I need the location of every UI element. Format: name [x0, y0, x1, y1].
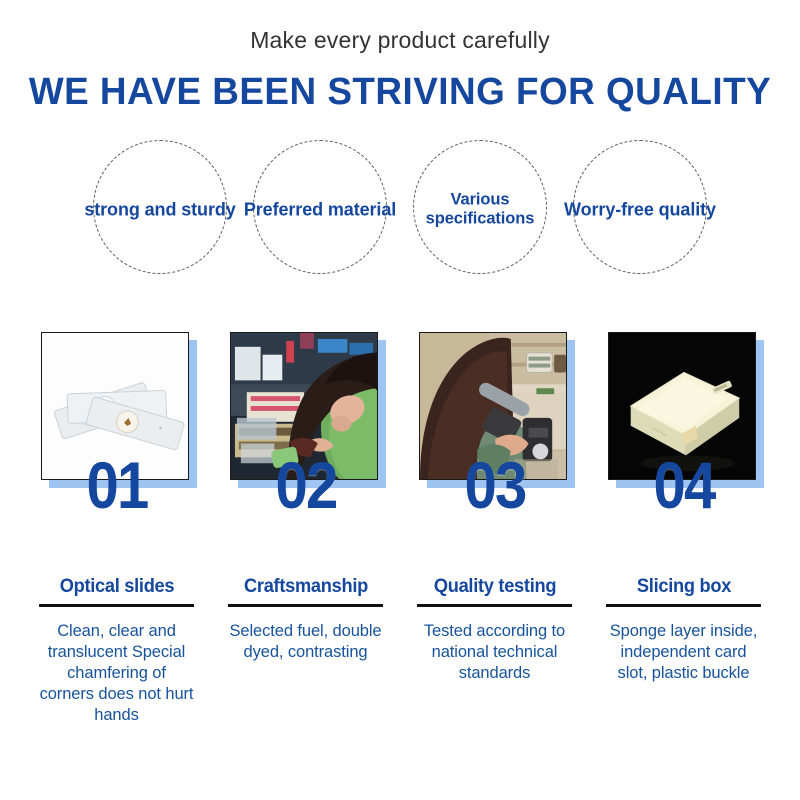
product-card-craftsmanship: 02 Craftsmanship Selected fuel, double d…: [228, 332, 384, 727]
product-card-divider: [417, 604, 572, 607]
product-card-divider: [606, 604, 761, 607]
product-card-title: Craftsmanship: [231, 576, 381, 598]
product-card-divider: [228, 604, 383, 607]
product-card-description: Clean, clear and translucent Special cha…: [39, 621, 195, 727]
product-card-number: 04: [615, 452, 752, 518]
feature-circle-label: Worry-free quality: [560, 199, 720, 220]
product-card-description: Selected fuel, double dyed, contrasting: [228, 621, 384, 663]
product-card-number: 02: [237, 452, 374, 518]
feature-circle-strong-and-sturdy: strong and sturdy: [93, 140, 227, 274]
product-card-number: 03: [426, 452, 563, 518]
feature-circle-label: Preferred material: [240, 199, 400, 220]
page-header: Make every product carefully WE HAVE BEE…: [0, 0, 800, 114]
feature-circle-preferred-material: Preferred material: [253, 140, 387, 274]
feature-circle-worry-free-quality: Worry-free quality: [573, 140, 707, 274]
product-quality-banner: Make every product carefully WE HAVE BEE…: [0, 0, 800, 800]
page-subtitle: Make every product carefully: [0, 28, 800, 53]
product-card-title: Optical slides: [42, 576, 192, 598]
product-card-optical-slides: 01 Optical slides Clean, clear and trans…: [39, 332, 195, 727]
product-card-number: 01: [48, 452, 185, 518]
feature-circle-label: strong and sturdy: [80, 199, 240, 220]
product-card-description: Sponge layer inside, independent card sl…: [606, 621, 762, 684]
product-card-slicing-box: 04 Slicing box Sponge layer inside, inde…: [606, 332, 762, 727]
product-card-list: 01 Optical slides Clean, clear and trans…: [0, 332, 800, 727]
product-card-description: Tested according to national technical s…: [417, 621, 573, 684]
product-card-quality-testing: 03 Quality testing Tested according to n…: [417, 332, 573, 727]
product-card-title: Quality testing: [420, 576, 570, 598]
feature-circle-list: strong and sturdy Preferred material Var…: [0, 140, 800, 274]
product-card-title: Slicing box: [609, 576, 759, 598]
feature-circle-various-specifications: Various specifications: [413, 140, 547, 274]
feature-circle-label: Various specifications: [400, 190, 560, 229]
page-title: WE HAVE BEEN STRIVING FOR QUALITY: [12, 71, 788, 114]
product-card-divider: [39, 604, 194, 607]
